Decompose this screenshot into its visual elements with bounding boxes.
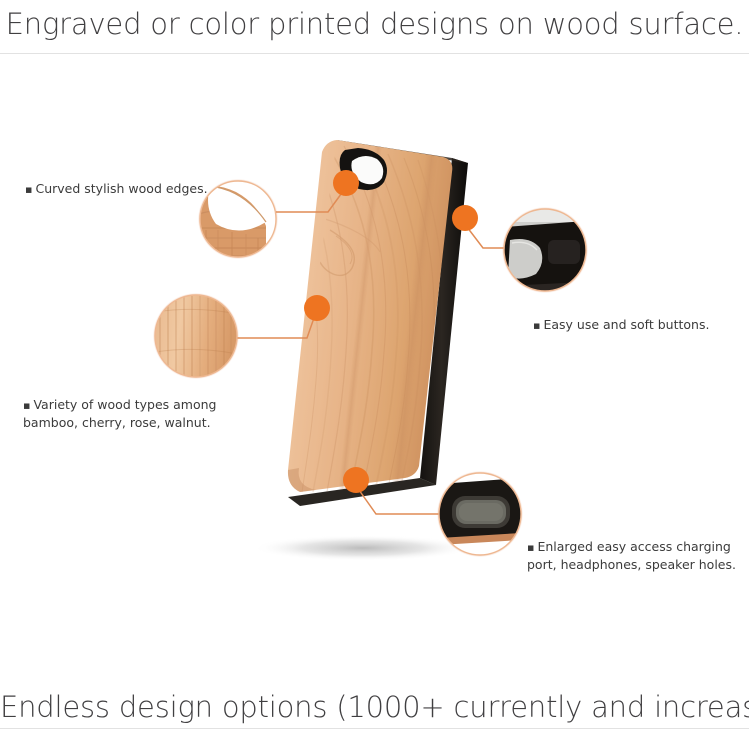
callout-label-wood-types: ▪Variety of wood types among bamboo, che… [23,379,253,431]
callout-text-wood-types: Variety of wood types among bamboo, cher… [23,397,216,430]
callout-text-soft-buttons: Easy use and soft buttons. [543,317,709,332]
callout-label-soft-buttons: ▪Easy use and soft buttons. [533,299,709,334]
square-bullet-icon: ▪ [25,183,32,196]
callout-text-charging-port: Enlarged easy access charging port, head… [527,539,736,572]
hotspot-dot-soft-buttons[interactable] [452,205,478,231]
square-bullet-icon: ▪ [23,399,30,412]
page-title-bottom: Endless design options (1000+ currently … [0,690,749,724]
magnifier-wood-types [153,293,239,379]
magnifier-curved-edges [198,179,278,262]
hotspot-dot-wood-types[interactable] [304,295,330,321]
callout-soft-buttons[interactable] [452,205,588,293]
callout-text-curved-edges: Curved stylish wood edges. [35,181,207,196]
divider-bottom [0,728,749,729]
callout-label-curved-edges: ▪Curved stylish wood edges. [25,163,208,198]
product-illustration [0,0,749,731]
square-bullet-icon: ▪ [533,319,540,332]
square-bullet-icon: ▪ [527,541,534,554]
magnifier-soft-buttons [502,207,588,293]
infographic-canvas: Engraved or color printed designs on woo… [0,0,749,731]
callout-label-charging-port: ▪Enlarged easy access charging port, hea… [527,521,749,573]
case-drop-shadow [253,535,473,561]
magnifier-charging-port [437,471,523,557]
hotspot-dot-curved-edges[interactable] [333,170,359,196]
hotspot-dot-charging-port[interactable] [343,467,369,493]
